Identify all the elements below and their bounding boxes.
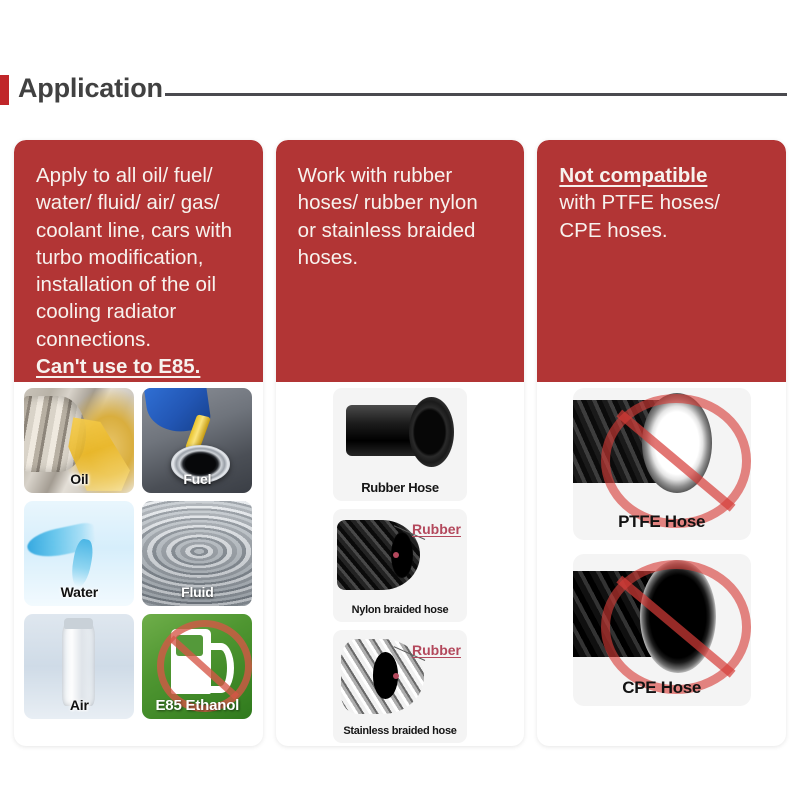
tile-label: Fluid bbox=[142, 584, 252, 600]
tile-label: Nylon braided hose bbox=[333, 604, 467, 616]
hose-end-shape bbox=[640, 560, 715, 672]
hose-tile-area: Rubber Hose Rubber Nylon braided hose Ru… bbox=[276, 382, 525, 746]
section-header: Application bbox=[0, 68, 800, 112]
cpe-hose-image bbox=[573, 560, 719, 672]
callout-line: hoses. bbox=[298, 246, 358, 269]
incompatible-tile-area: PTFE Hose CPE Hose bbox=[537, 382, 786, 746]
callout-emphasis-not-compatible: Not compatible bbox=[559, 164, 707, 187]
tile-label: CPE Hose bbox=[573, 678, 751, 698]
tile-rubber-hose[interactable]: Rubber Hose bbox=[333, 388, 467, 501]
callout-line: hoses/ rubber nylon bbox=[298, 191, 478, 214]
callout-compatible-media: Apply to all oil/ fuel/ water/ fluid/ ai… bbox=[14, 140, 263, 382]
hose-end-shape bbox=[642, 393, 712, 493]
hose-end-shape bbox=[409, 397, 454, 467]
card-compatible-media: Apply to all oil/ fuel/ water/ fluid/ ai… bbox=[14, 140, 263, 746]
media-tile-grid: Oil Fuel Water Fluid bbox=[24, 388, 252, 719]
tile-label: Fuel bbox=[142, 471, 252, 487]
callout-line: cooling radiator bbox=[36, 300, 176, 323]
tile-nylon-braided-hose[interactable]: Rubber Nylon braided hose bbox=[333, 509, 467, 622]
tile-label: Water bbox=[24, 584, 134, 600]
media-tile-area: Oil Fuel Water Fluid bbox=[14, 382, 263, 746]
callout-line: turbo modification, bbox=[36, 246, 204, 269]
tile-e85-ethanol[interactable]: E85 Ethanol bbox=[142, 614, 252, 719]
incompatible-tile-stack: PTFE Hose CPE Hose bbox=[573, 388, 751, 706]
tile-stainless-braided-hose[interactable]: Rubber Stainless braided hose bbox=[333, 630, 467, 743]
annotation-rubber-label: Rubber bbox=[412, 521, 461, 537]
tile-air[interactable]: Air bbox=[24, 614, 134, 719]
tile-water[interactable]: Water bbox=[24, 501, 134, 606]
card-incompatible-hoses: Not compatible with PTFE hoses/ CPE hose… bbox=[537, 140, 786, 746]
tile-fluid[interactable]: Fluid bbox=[142, 501, 252, 606]
tile-ptfe-hose[interactable]: PTFE Hose bbox=[573, 388, 751, 540]
callout-line: with PTFE hoses/ bbox=[559, 191, 720, 214]
ptfe-hose-image bbox=[573, 391, 715, 497]
e85-prohibited-icon: E85 Ethanol bbox=[142, 614, 252, 719]
callout-line: installation of the oil bbox=[36, 273, 216, 296]
callout-line: Work with rubber bbox=[298, 164, 453, 187]
tile-label: Stainless braided hose bbox=[333, 725, 467, 737]
callout-emphasis-e85: Can't use to E85. bbox=[36, 355, 200, 378]
callout-line: or stainless braided bbox=[298, 219, 476, 242]
tile-label: Oil bbox=[24, 471, 134, 487]
callout-line: Apply to all oil/ fuel/ bbox=[36, 164, 213, 187]
callout-incompatible-hoses: Not compatible with PTFE hoses/ CPE hose… bbox=[537, 140, 786, 382]
callout-line: water/ fluid/ air/ gas/ bbox=[36, 191, 219, 214]
hose-tile-stack: Rubber Hose Rubber Nylon braided hose Ru… bbox=[333, 388, 467, 743]
callout-line: connections. bbox=[36, 328, 151, 351]
page-title: Application bbox=[18, 75, 163, 105]
callout-compatible-hoses: Work with rubber hoses/ rubber nylon or … bbox=[276, 140, 525, 382]
card-compatible-hoses: Work with rubber hoses/ rubber nylon or … bbox=[276, 140, 525, 746]
tile-label: Rubber Hose bbox=[333, 480, 467, 495]
callout-line: coolant line, cars with bbox=[36, 219, 232, 242]
application-columns: Apply to all oil/ fuel/ water/ fluid/ ai… bbox=[14, 140, 786, 746]
tile-label: PTFE Hose bbox=[573, 512, 751, 532]
header-divider-rule bbox=[165, 93, 787, 96]
tile-oil[interactable]: Oil bbox=[24, 388, 134, 493]
annotation-rubber-label: Rubber bbox=[412, 642, 461, 658]
callout-line: CPE hoses. bbox=[559, 219, 667, 242]
tile-fuel[interactable]: Fuel bbox=[142, 388, 252, 493]
tile-label: E85 Ethanol bbox=[142, 697, 252, 714]
tile-cpe-hose[interactable]: CPE Hose bbox=[573, 554, 751, 706]
tile-label: Air bbox=[24, 697, 134, 713]
header-accent-bar bbox=[0, 75, 9, 105]
rubber-hose-image bbox=[346, 397, 453, 467]
